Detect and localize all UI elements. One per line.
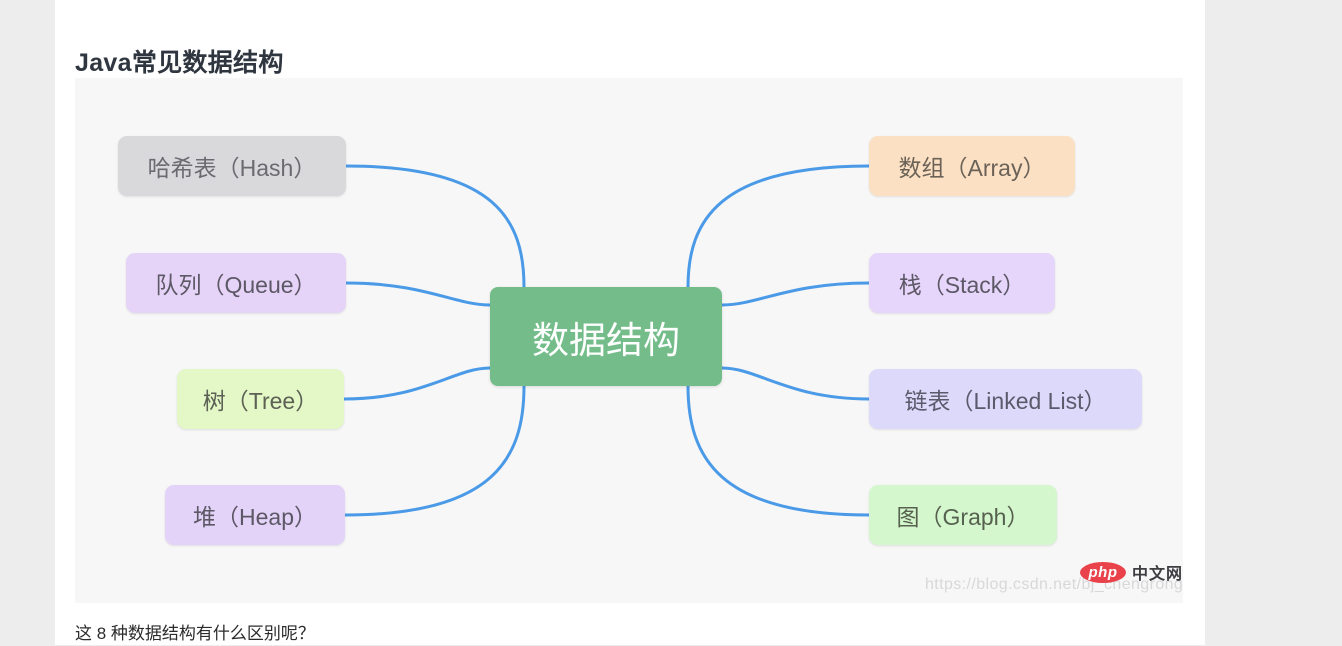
connector-hash	[346, 166, 524, 287]
node-label: 链表（Linked List）	[905, 382, 1107, 416]
node-tree: 树（Tree）	[177, 369, 344, 429]
following-paragraph: 这 8 种数据结构有什么区别呢？	[75, 622, 315, 646]
node-label: 队列（Queue）	[155, 266, 316, 300]
connector-heap	[345, 386, 524, 515]
php-logo-watermark: php 中文网	[1080, 560, 1183, 584]
connector-linkedlist	[722, 368, 869, 399]
node-label: 图（Graph）	[897, 498, 1030, 532]
node-label: 数据结构	[532, 310, 680, 364]
node-heap: 堆（Heap）	[165, 485, 345, 545]
page-title: Java常见数据结构	[75, 43, 284, 79]
connector-graph	[688, 386, 869, 515]
connector-stack	[722, 283, 869, 305]
truncated-top-paragraph	[75, 0, 1175, 9]
node-label: 树（Tree）	[203, 382, 318, 416]
center-node: 数据结构	[490, 287, 722, 386]
node-linkedlist: 链表（Linked List）	[869, 369, 1142, 429]
php-site-label: 中文网	[1132, 560, 1183, 584]
article-page: Java常见数据结构 数据结构哈希表（Hash）队列（Queue）树（Tree）…	[55, 0, 1205, 645]
connector-queue	[346, 283, 490, 305]
node-label: 哈希表（Hash）	[148, 149, 317, 183]
node-queue: 队列（Queue）	[126, 253, 346, 313]
node-stack: 栈（Stack）	[869, 253, 1055, 313]
node-graph: 图（Graph）	[869, 485, 1057, 545]
php-badge-icon: php	[1080, 562, 1126, 583]
node-label: 栈（Stack）	[899, 266, 1026, 300]
connector-tree	[344, 368, 490, 399]
node-array: 数组（Array）	[869, 136, 1075, 196]
connector-array	[688, 166, 869, 287]
mindmap-figure: 数据结构哈希表（Hash）队列（Queue）树（Tree）堆（Heap）数组（A…	[75, 78, 1183, 603]
node-hash: 哈希表（Hash）	[118, 136, 346, 196]
node-label: 堆（Heap）	[193, 498, 317, 532]
node-label: 数组（Array）	[899, 149, 1046, 183]
